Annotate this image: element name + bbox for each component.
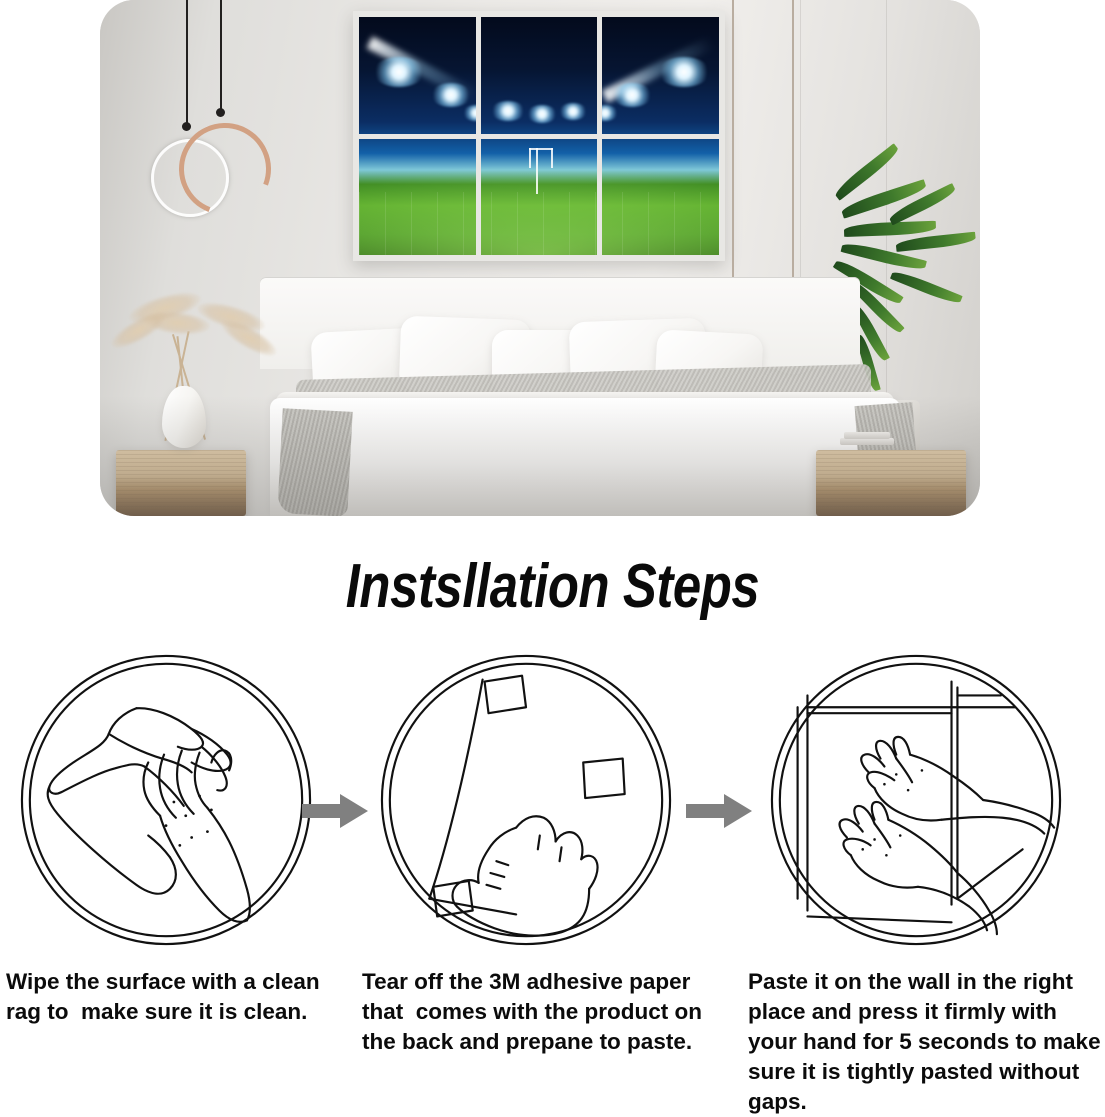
step-arrow-2 xyxy=(686,794,752,828)
inner-ring xyxy=(30,664,302,936)
pendant-cord xyxy=(186,0,188,128)
step-3-caption: Paste it on the wall in the right place … xyxy=(748,967,1105,1117)
adhesive-pad xyxy=(583,759,624,798)
step-2-caption: Tear off the 3M adhesive paper that come… xyxy=(362,967,707,1057)
pendant-cord-dot xyxy=(182,122,191,131)
installation-steps-illustrations xyxy=(0,648,1105,958)
art-panel xyxy=(359,139,476,256)
step-1-illustration xyxy=(18,652,314,948)
two-hands-pressing-panel-on-wall-icon xyxy=(798,682,1055,935)
outer-ring xyxy=(22,656,310,944)
outer-ring xyxy=(772,656,1060,944)
step-2-illustration xyxy=(378,652,674,948)
adhesive-pad xyxy=(485,676,526,713)
art-panel xyxy=(481,139,598,256)
installation-steps-captions: Wipe the surface with a clean rag to mak… xyxy=(0,967,1105,1092)
step-1-caption: Wipe the surface with a clean rag to mak… xyxy=(6,967,336,1027)
art-panel xyxy=(481,17,598,134)
inner-ring xyxy=(780,664,1052,936)
step-3-illustration xyxy=(768,652,1064,948)
page-title: Instsllation Steps xyxy=(99,551,1005,622)
step-arrow-1 xyxy=(302,794,368,828)
pendant-cord xyxy=(220,0,222,113)
art-panel xyxy=(602,17,719,134)
stadium-canvas-wall-art xyxy=(353,11,725,261)
floor-shadow xyxy=(100,396,980,516)
art-panel xyxy=(359,17,476,134)
pendant-cord-dot xyxy=(216,108,225,117)
bedroom-room-scene-photo xyxy=(100,0,980,516)
hand-wiping-surface-with-cloth-icon xyxy=(48,708,250,922)
art-panel xyxy=(602,139,719,256)
hand-peeling-3m-adhesive-paper-icon xyxy=(429,676,624,936)
art-panel-grid xyxy=(359,17,719,255)
pendant-cord xyxy=(732,0,734,288)
pendant-cord xyxy=(792,0,794,302)
